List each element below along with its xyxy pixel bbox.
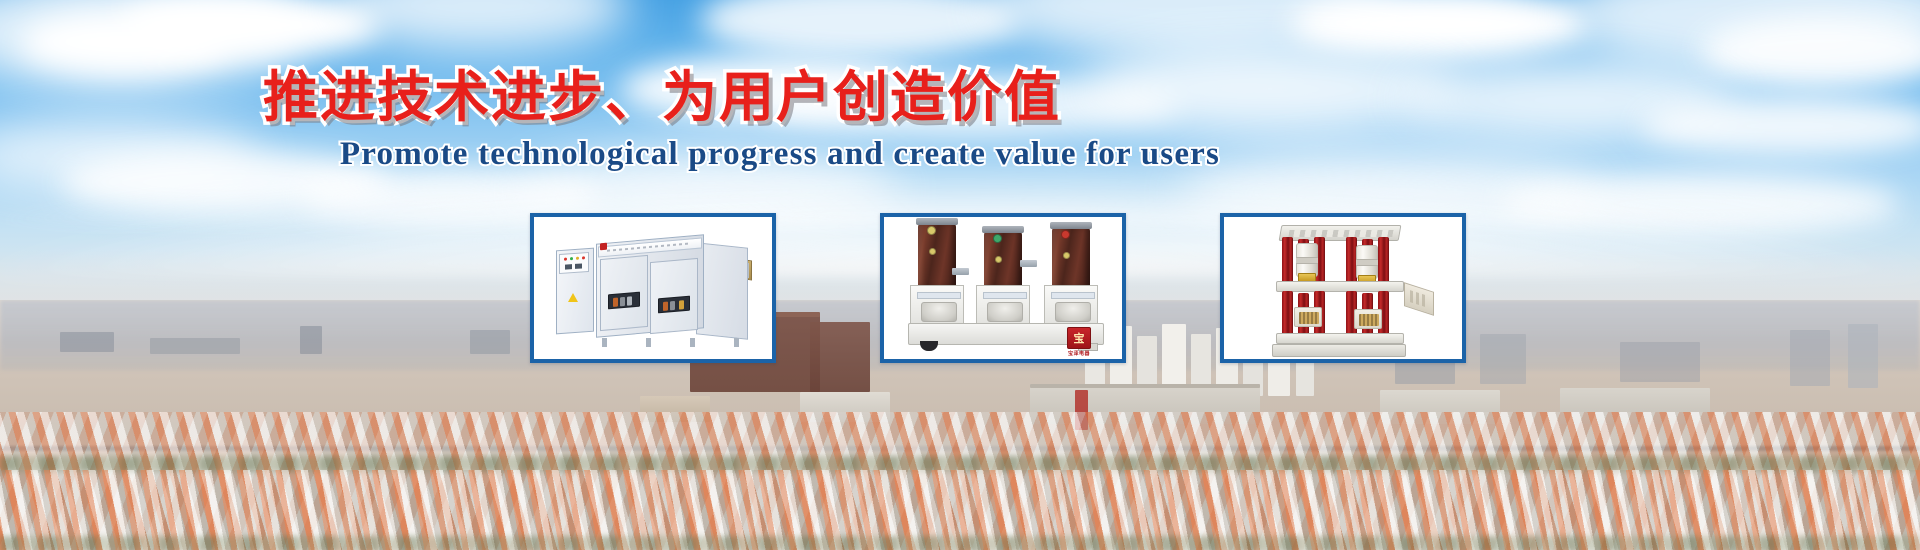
product-image-switchgear [534,217,772,359]
product-image-vacuum-contactor [1224,217,1462,359]
product-card-vacuum-contactor[interactable] [1220,213,1466,363]
promo-banner: 推进技术进步、为用户创造价值 Promote technological pro… [0,0,1920,550]
product-card-switchgear[interactable] [530,213,776,363]
product-card-vacuum-circuit-breaker[interactable]: 宝 宝泽电器 [880,213,1126,363]
brand-logo-text: 宝泽电器 [1062,350,1096,357]
brand-logo-baoze: 宝 宝泽电器 [1062,327,1096,357]
brand-logo-glyph: 宝 [1067,327,1091,349]
page-title: 推进技术进步、为用户创造价值 [0,52,1622,132]
page-subtitle: Promote technological progress and creat… [0,136,1740,173]
product-image-vacuum-circuit-breaker: 宝 宝泽电器 [884,217,1122,359]
